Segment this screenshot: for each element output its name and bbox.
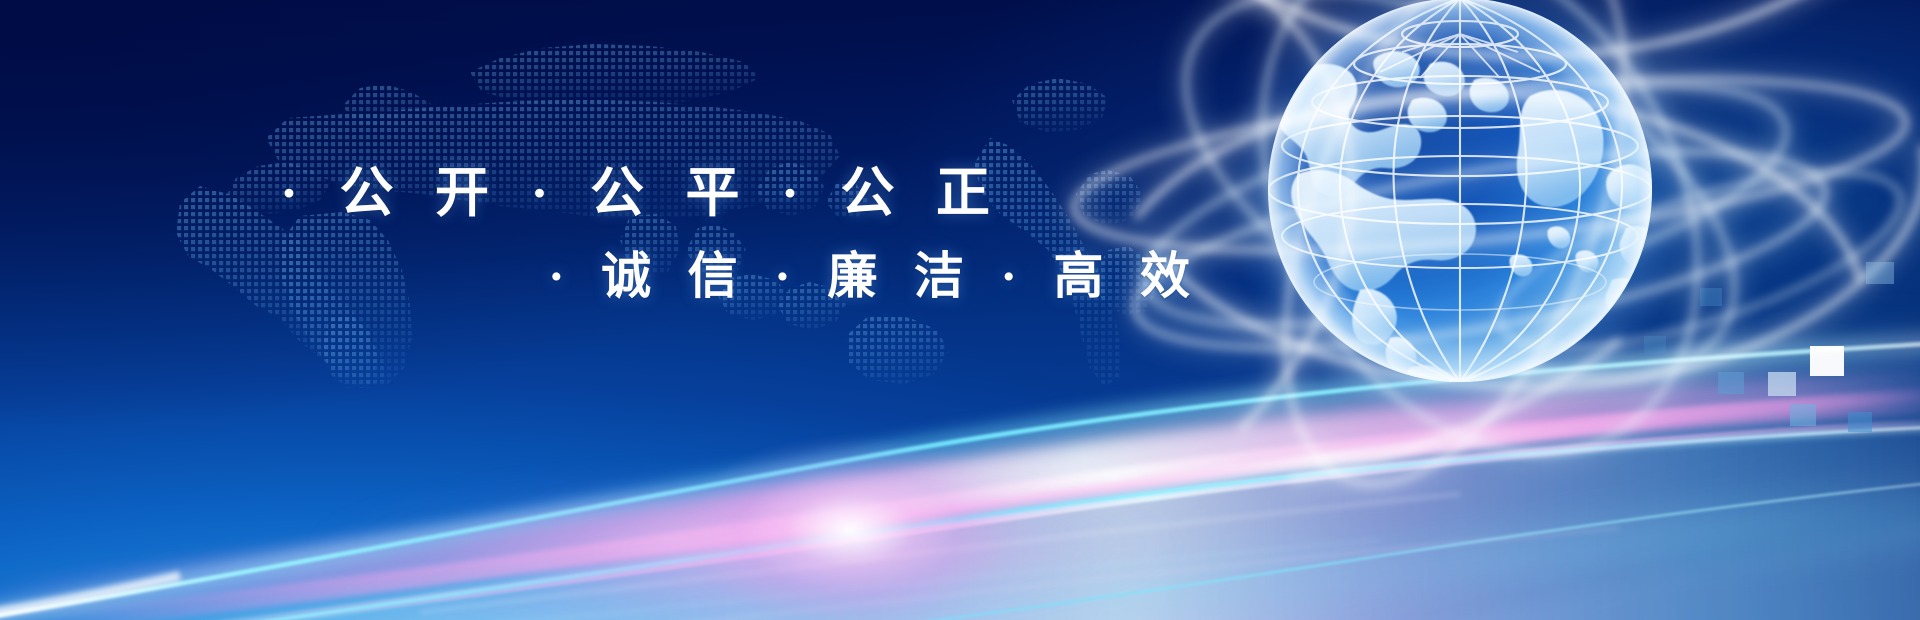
decorative-square-dim-1 (1700, 288, 1722, 306)
decorative-square-mid-2 (1790, 404, 1816, 426)
decorative-square-white (1810, 346, 1844, 376)
banner-root: · 公 开 · 公 平 · 公 正 · 诚 信 · 廉 洁 · 高 效 (0, 0, 1920, 620)
decorative-square-mid-3 (1848, 412, 1872, 432)
decorative-square-dim-2 (1644, 336, 1666, 354)
decorative-square-pale-1 (1768, 372, 1796, 396)
decorative-square-mid-1 (1718, 372, 1744, 394)
slogan-line-2: · 诚 信 · 廉 洁 · 高 效 (548, 236, 1202, 308)
decorative-square-pale-2 (1866, 262, 1894, 284)
slogan-line-1: · 公 开 · 公 平 · 公 正 (280, 148, 1004, 227)
